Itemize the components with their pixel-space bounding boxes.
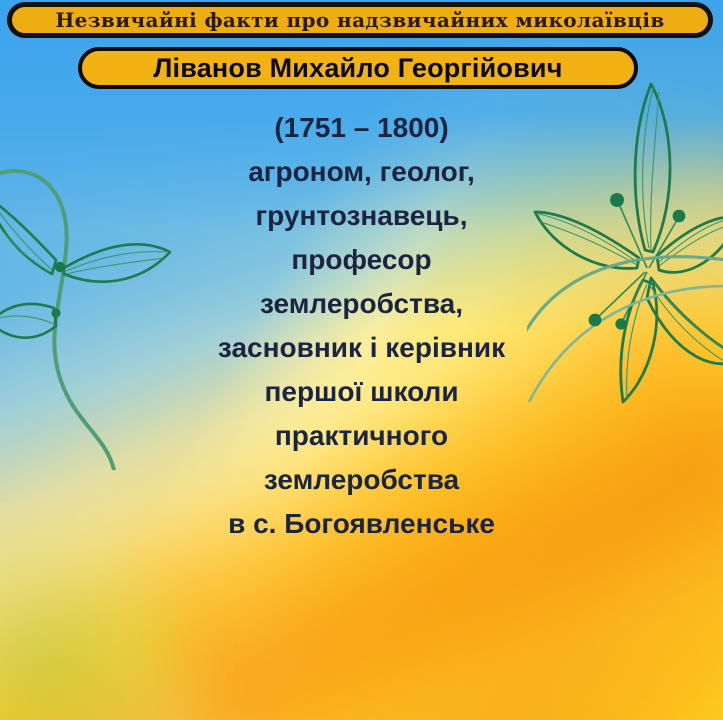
bio-line: професор — [127, 238, 597, 282]
series-title-text: Незвичайні факти про надзвичайних микола… — [55, 10, 664, 30]
bio-line: практичного — [127, 414, 597, 458]
bio-line: агроном, геолог, — [127, 150, 597, 194]
bio-line: засновник і керівник — [127, 326, 597, 370]
bio-line: в с. Богоявленське — [127, 502, 597, 546]
person-name-banner: Ліванов Михайло Георгійович — [78, 47, 638, 89]
bio-line: землеробства — [127, 458, 597, 502]
biography-text-block: (1751 – 1800) агроном, геолог, грунтозна… — [127, 106, 597, 546]
person-name-text: Ліванов Михайло Георгійович — [153, 55, 562, 82]
bio-line: землеробства, — [127, 282, 597, 326]
background-green-tint — [0, 518, 217, 720]
bio-line: (1751 – 1800) — [127, 106, 597, 150]
poster-canvas: Незвичайні факти про надзвичайних микола… — [0, 0, 723, 720]
series-title-banner: Незвичайні факти про надзвичайних микола… — [7, 2, 713, 38]
bio-line: першої школи — [127, 370, 597, 414]
bio-line: грунтознавець, — [127, 194, 597, 238]
